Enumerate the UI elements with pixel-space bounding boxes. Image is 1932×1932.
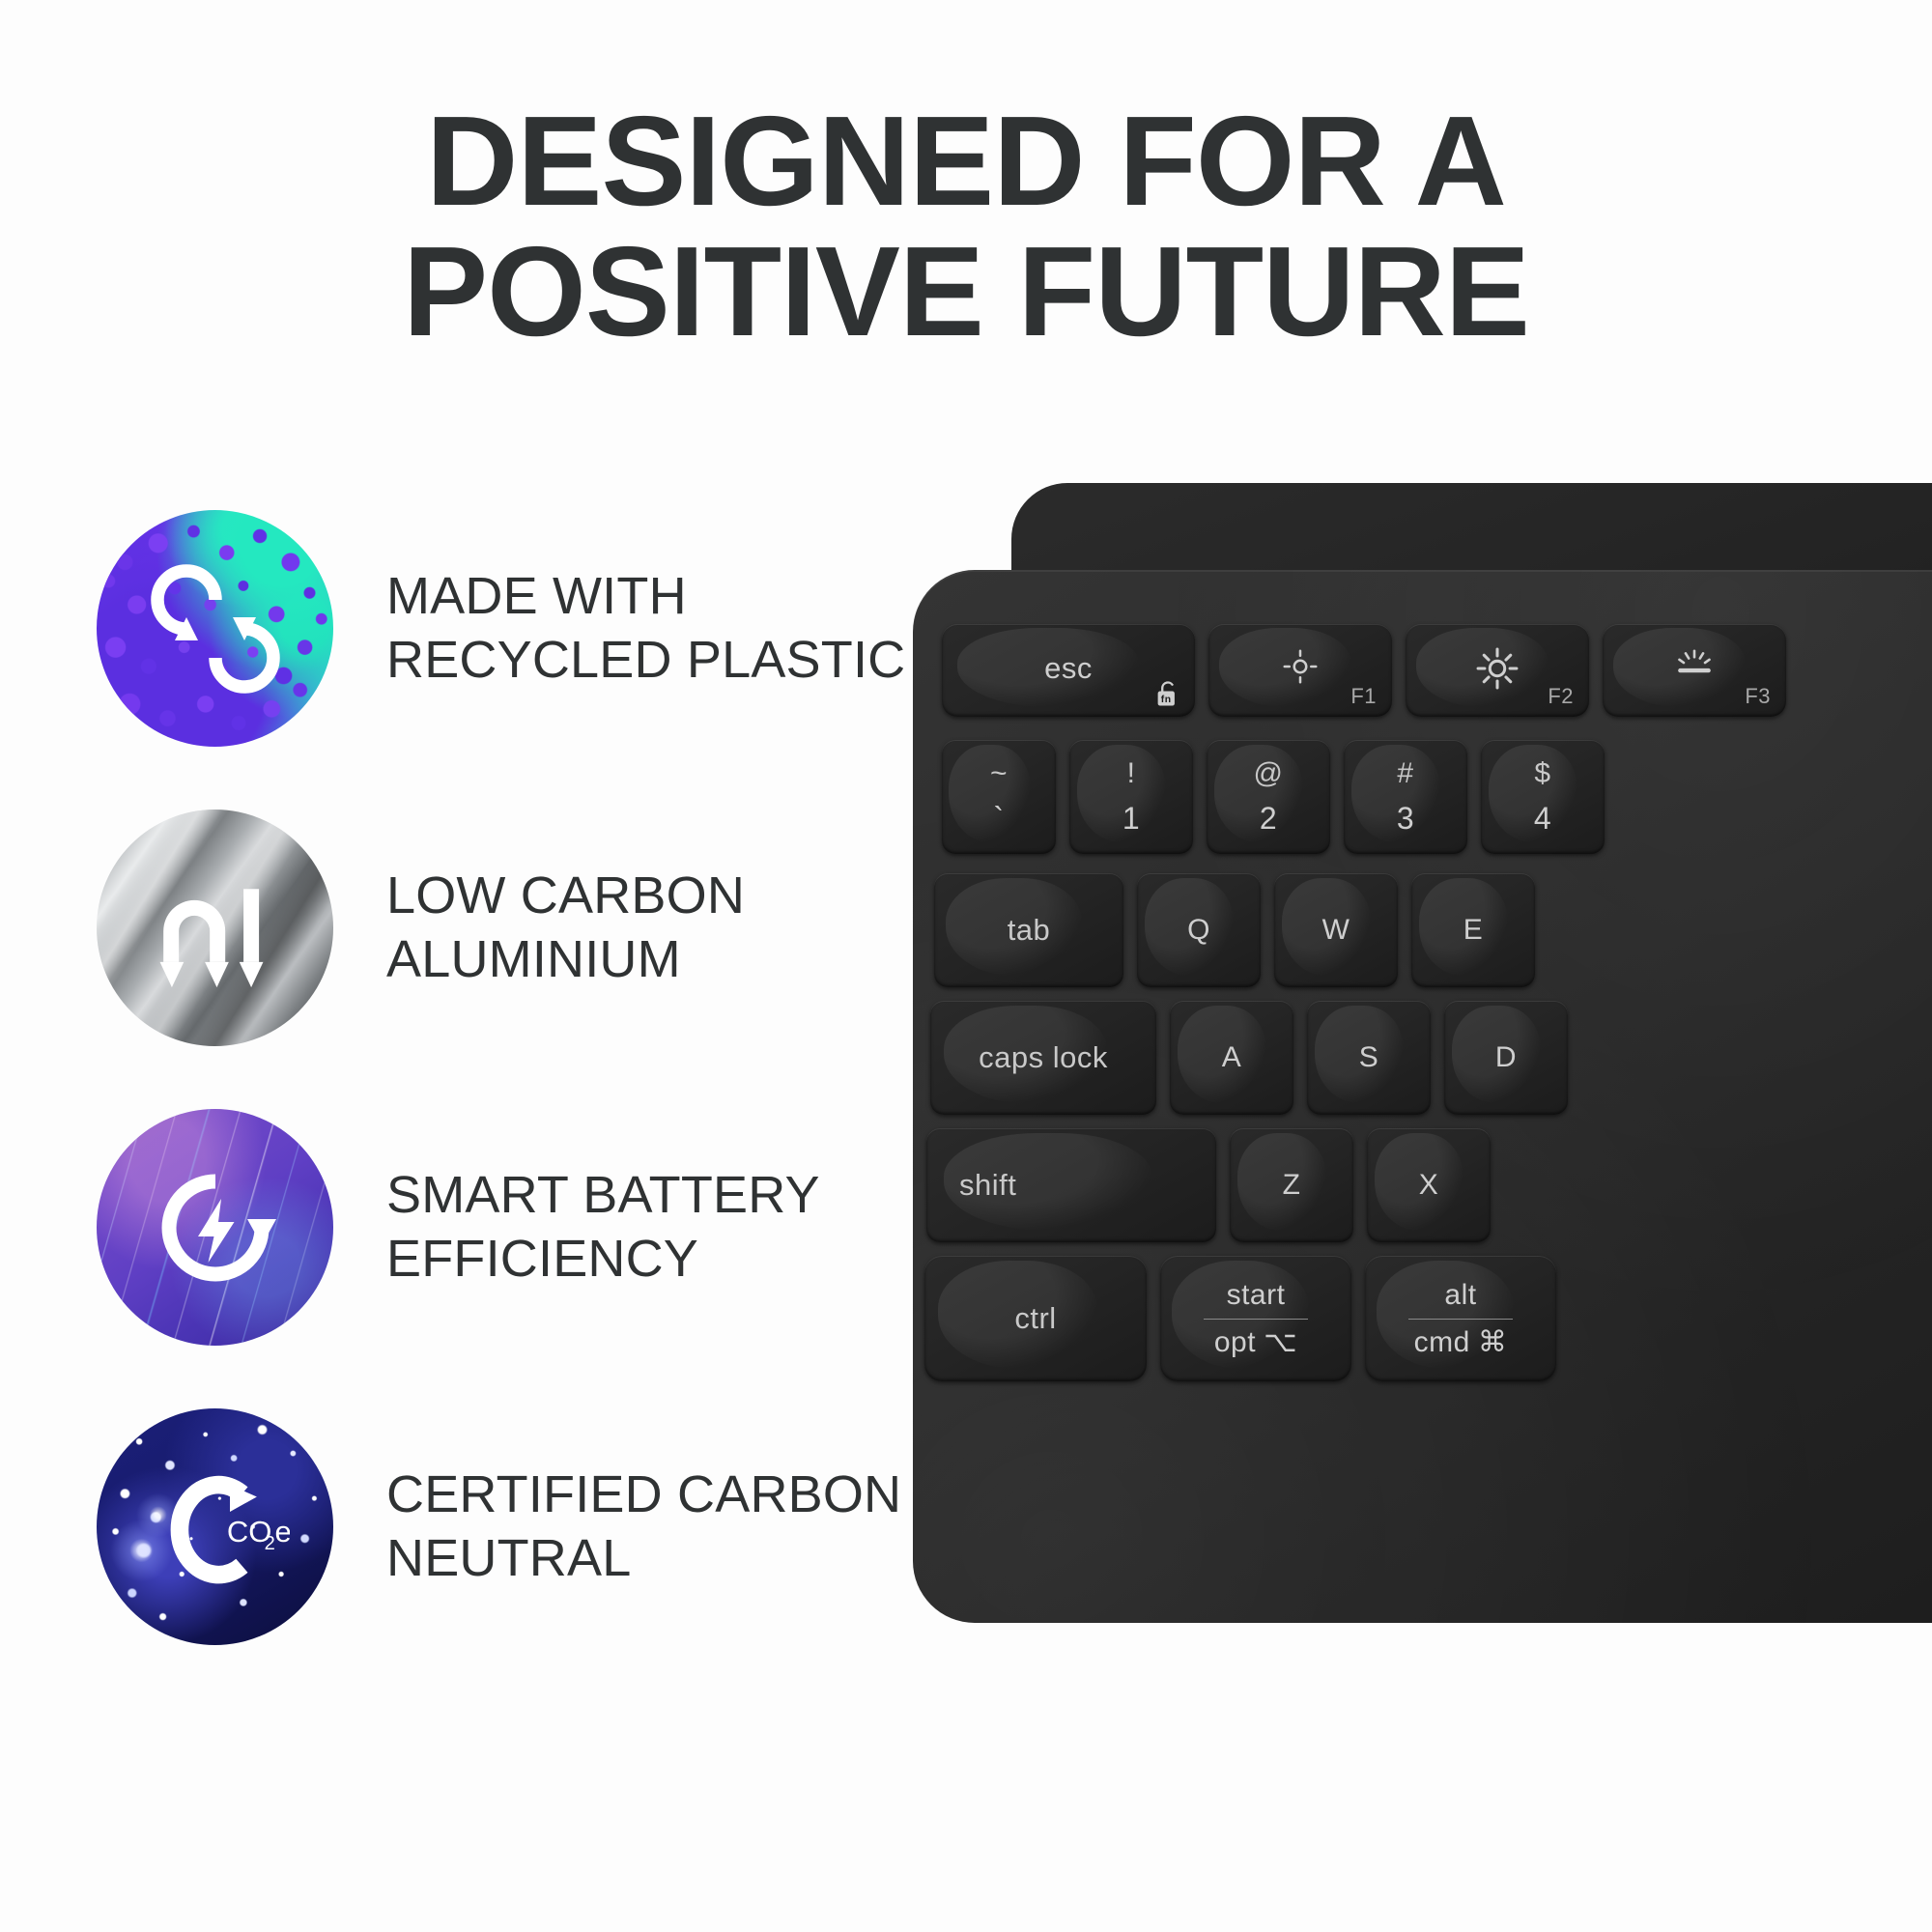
option-symbol-icon: ⌥ bbox=[1264, 1328, 1297, 1357]
low-carbon-aluminium-badge bbox=[97, 810, 333, 1046]
key-tab[interactable]: tab bbox=[934, 873, 1123, 987]
key-alt-cmd[interactable]: alt cmd ⌘ bbox=[1365, 1256, 1556, 1381]
wireless-keyboard: esc fn F1 bbox=[903, 483, 1932, 1690]
key-d[interactable]: D bbox=[1444, 1001, 1568, 1115]
key-backtick[interactable]: ~ ` bbox=[942, 740, 1056, 854]
recycle-arrows-icon bbox=[97, 510, 333, 747]
carbon-neutral-c-icon: CO 2 e bbox=[97, 1408, 333, 1645]
key-z[interactable]: Z bbox=[1230, 1128, 1353, 1242]
key-f3-backlight[interactable]: F3 bbox=[1603, 624, 1786, 717]
recycled-plastic-badge bbox=[97, 510, 333, 747]
key-caps-lock[interactable]: caps lock bbox=[930, 1001, 1156, 1115]
function-row: esc fn F1 bbox=[942, 624, 1786, 717]
key-w[interactable]: W bbox=[1274, 873, 1398, 987]
feature-list: MADE WITH RECYCLED PLASTIC bbox=[97, 510, 927, 1708]
certified-carbon-neutral-badge: CO 2 e bbox=[97, 1408, 333, 1645]
key-4[interactable]: $ 4 bbox=[1481, 740, 1605, 854]
feature-label: CERTIFIED CARBON NEUTRAL bbox=[386, 1463, 901, 1591]
feature-smart-battery: SMART BATTERY EFFICIENCY bbox=[97, 1109, 927, 1346]
feature-certified-carbon-neutral: CO 2 e CERTIFIED CARBON NEUTRAL bbox=[97, 1408, 927, 1645]
smart-battery-badge bbox=[97, 1109, 333, 1346]
tab-row: tab Q W E bbox=[934, 873, 1535, 987]
key-f1-brightness-down[interactable]: F1 bbox=[1208, 624, 1392, 717]
feature-label: MADE WITH RECYCLED PLASTIC bbox=[386, 565, 905, 693]
key-a[interactable]: A bbox=[1170, 1001, 1293, 1115]
page-title: DESIGNED FOR A POSITIVE FUTURE bbox=[0, 97, 1932, 356]
key-2[interactable]: @ 2 bbox=[1207, 740, 1330, 854]
feature-low-carbon-aluminium: LOW CARBON ALUMINIUM bbox=[97, 810, 927, 1046]
svg-text:fn: fn bbox=[1161, 695, 1172, 705]
key-esc[interactable]: esc fn bbox=[942, 624, 1195, 717]
svg-text:2: 2 bbox=[265, 1533, 275, 1554]
feature-label: LOW CARBON ALUMINIUM bbox=[386, 865, 745, 992]
svg-text:e: e bbox=[275, 1515, 291, 1548]
key-1[interactable]: ! 1 bbox=[1069, 740, 1193, 854]
battery-bolt-refresh-icon bbox=[97, 1109, 333, 1346]
command-symbol-icon: ⌘ bbox=[1478, 1328, 1508, 1357]
key-3[interactable]: # 3 bbox=[1344, 740, 1467, 854]
key-e[interactable]: E bbox=[1411, 873, 1535, 987]
key-shift[interactable]: shift bbox=[926, 1128, 1216, 1242]
backlight-icon bbox=[1603, 647, 1786, 682]
bottom-modifier-row: ctrl start opt ⌥ alt cmd ⌘ bbox=[924, 1256, 1556, 1381]
key-s[interactable]: S bbox=[1307, 1001, 1431, 1115]
feature-label: SMART BATTERY EFFICIENCY bbox=[386, 1164, 820, 1292]
key-start-opt[interactable]: start opt ⌥ bbox=[1160, 1256, 1351, 1381]
key-f2-brightness-up[interactable]: F2 bbox=[1406, 624, 1589, 717]
caps-row: caps lock A S D bbox=[930, 1001, 1568, 1115]
aluminium-down-arrows-icon bbox=[97, 810, 333, 1046]
key-q[interactable]: Q bbox=[1137, 873, 1261, 987]
shift-row: shift Z X bbox=[926, 1128, 1491, 1242]
key-x[interactable]: X bbox=[1367, 1128, 1491, 1242]
feature-recycled-plastic: MADE WITH RECYCLED PLASTIC bbox=[97, 510, 927, 747]
brightness-down-icon bbox=[1208, 647, 1392, 686]
key-ctrl[interactable]: ctrl bbox=[924, 1256, 1147, 1381]
fn-lock-padlock-icon: fn bbox=[1154, 680, 1181, 709]
number-row: ~ ` ! 1 @ 2 # 3 $ 4 bbox=[942, 740, 1605, 854]
